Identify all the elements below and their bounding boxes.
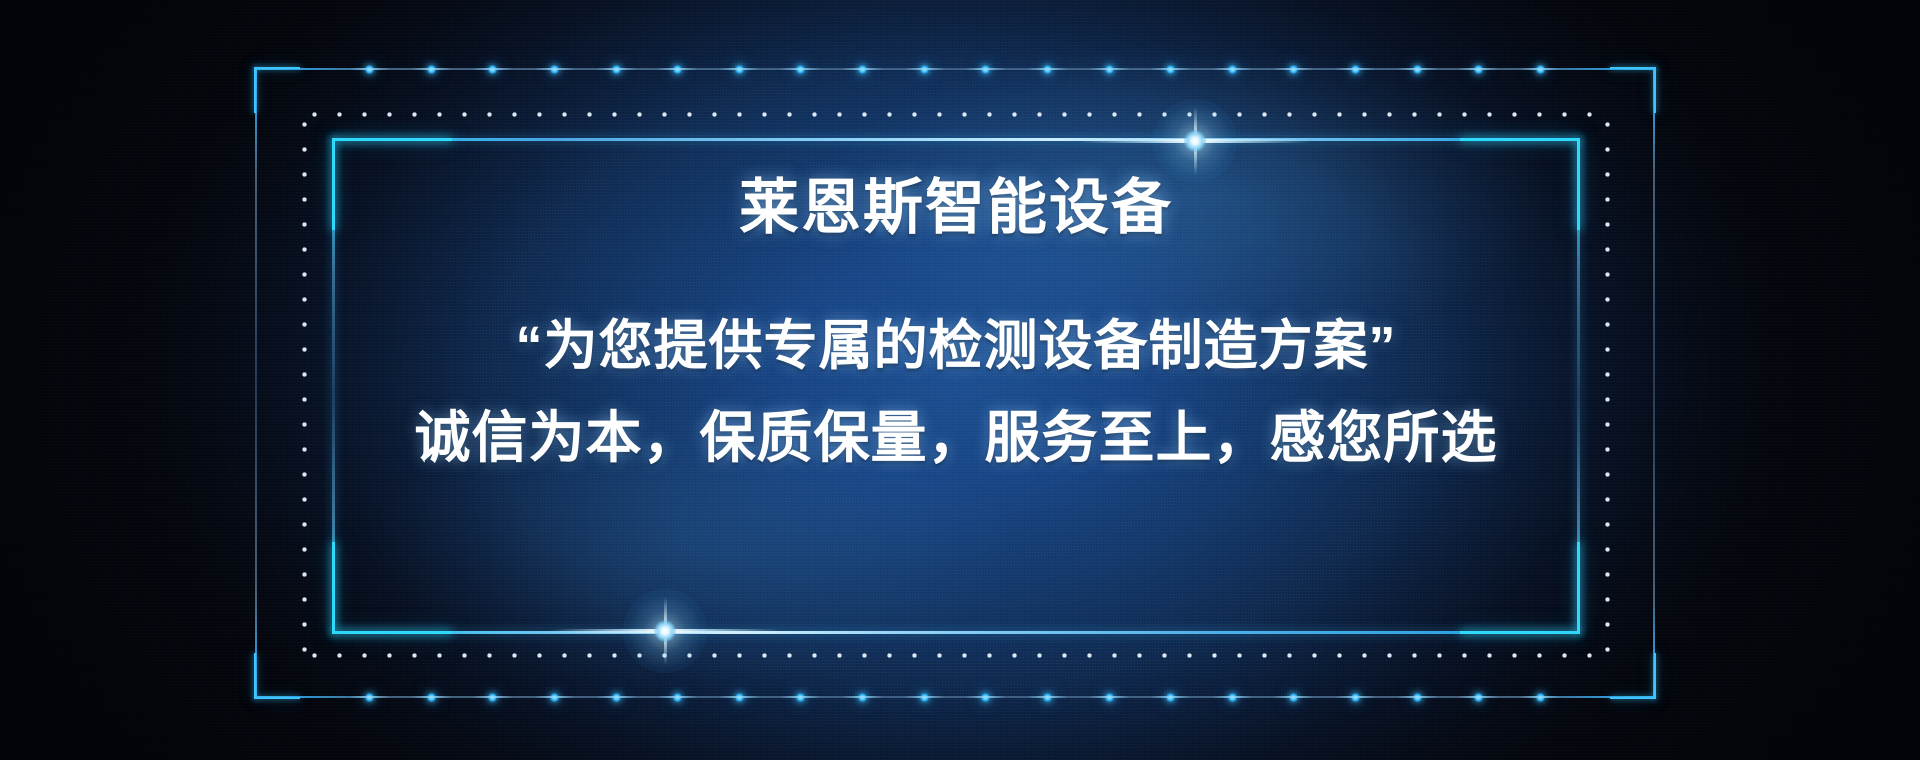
outer-frame-bottom-dot-markers — [365, 688, 1545, 706]
banner-tagline: “为您提供专属的检测设备制造方案” — [516, 315, 1397, 379]
frame-glow-dot-icon — [1043, 65, 1052, 74]
banner-text-block: 莱恩斯智能设备 “为您提供专属的检测设备制造方案” 诚信为本，保质保量，服务至上… — [332, 138, 1580, 634]
dotted-border-bottom — [302, 653, 1610, 658]
frame-glow-dot-icon — [1351, 693, 1360, 702]
frame-glow-dot-icon — [1536, 65, 1545, 74]
frame-glow-dot-icon — [1166, 65, 1175, 74]
frame-glow-dot-icon — [1413, 65, 1422, 74]
frame-glow-dot-icon — [858, 693, 867, 702]
frame-glow-dot-icon — [920, 693, 929, 702]
frame-glow-dot-icon — [1105, 65, 1114, 74]
outer-frame-top-dot-markers — [365, 60, 1545, 78]
frame-glow-dot-icon — [612, 65, 621, 74]
frame-glow-dot-icon — [1166, 693, 1175, 702]
frame-glow-dot-icon — [920, 65, 929, 74]
frame-glow-dot-icon — [1413, 693, 1422, 702]
banner-canvas: 莱恩斯智能设备 “为您提供专属的检测设备制造方案” 诚信为本，保质保量，服务至上… — [0, 0, 1920, 760]
frame-glow-dot-icon — [981, 65, 990, 74]
company-headline: 莱恩斯智能设备 — [739, 174, 1173, 241]
frame-glow-dot-icon — [981, 693, 990, 702]
frame-glow-dot-icon — [1228, 693, 1237, 702]
frame-glow-dot-icon — [427, 693, 436, 702]
frame-glow-dot-icon — [488, 693, 497, 702]
frame-glow-dot-icon — [1289, 65, 1298, 74]
frame-glow-dot-icon — [612, 693, 621, 702]
dotted-border-right — [1605, 112, 1610, 658]
frame-glow-dot-icon — [1043, 693, 1052, 702]
frame-glow-dot-icon — [550, 693, 559, 702]
frame-glow-dot-icon — [365, 65, 374, 74]
frame-glow-dot-icon — [427, 65, 436, 74]
frame-glow-dot-icon — [673, 65, 682, 74]
frame-glow-dot-icon — [1474, 693, 1483, 702]
frame-glow-dot-icon — [1351, 65, 1360, 74]
frame-glow-dot-icon — [858, 65, 867, 74]
outer-frame-left-rail — [255, 68, 257, 698]
frame-glow-dot-icon — [735, 693, 744, 702]
frame-glow-dot-icon — [735, 65, 744, 74]
frame-glow-dot-icon — [1536, 693, 1545, 702]
frame-glow-dot-icon — [796, 65, 805, 74]
frame-glow-dot-icon — [550, 65, 559, 74]
frame-glow-dot-icon — [1105, 693, 1114, 702]
dotted-border-top — [302, 112, 1610, 117]
frame-glow-dot-icon — [1228, 65, 1237, 74]
outer-frame-right-rail — [1653, 68, 1655, 698]
banner-slogan: 诚信为本，保质保量，服务至上，感您所选 — [415, 405, 1498, 471]
frame-glow-dot-icon — [1289, 693, 1298, 702]
frame-glow-dot-icon — [796, 693, 805, 702]
frame-glow-dot-icon — [1474, 65, 1483, 74]
dotted-border-left — [302, 112, 307, 658]
frame-glow-dot-icon — [488, 65, 497, 74]
frame-glow-dot-icon — [365, 693, 374, 702]
frame-glow-dot-icon — [673, 693, 682, 702]
